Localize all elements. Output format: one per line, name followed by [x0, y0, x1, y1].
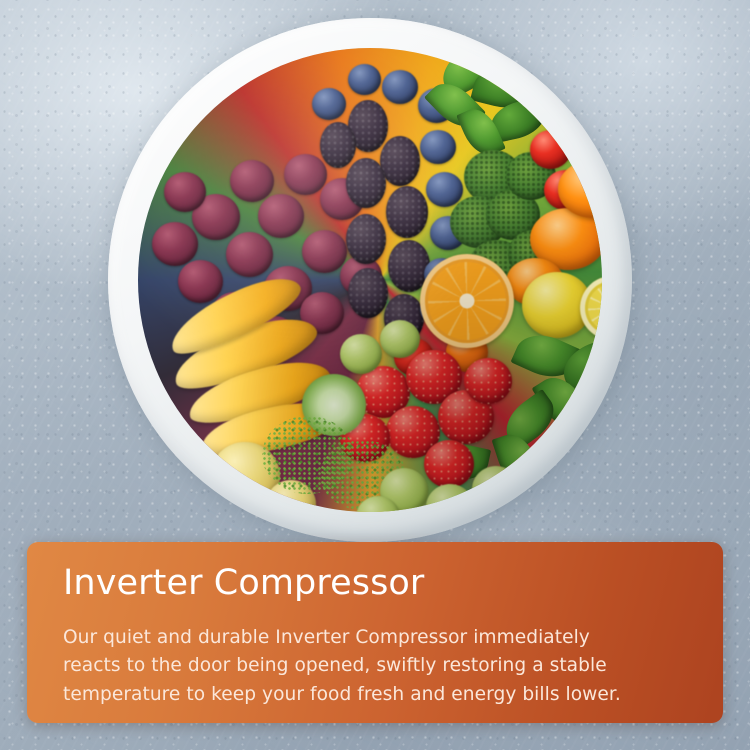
red-grapes [284, 154, 327, 195]
red-grapes [152, 222, 198, 266]
red-grapes [178, 260, 223, 303]
strawberries [464, 358, 512, 404]
blackberries [348, 268, 388, 318]
feature-description: Our quiet and durable Inverter Compresso… [63, 624, 687, 709]
blueberries [312, 88, 346, 120]
red-grapes [226, 232, 273, 277]
blackberries [346, 158, 386, 208]
red-grapes [302, 230, 347, 273]
produce-arrangement [138, 48, 602, 512]
blackberries [386, 186, 428, 238]
red-grapes [258, 194, 304, 238]
feature-description-line: temperature to keep your food fresh and … [63, 681, 687, 709]
feature-card: Inverter Compressor Our quiet and durabl… [27, 542, 723, 723]
blueberries [382, 70, 418, 104]
white-round-plate [108, 18, 632, 542]
green-grapes [380, 320, 420, 358]
blackberries [380, 136, 420, 186]
blackberries [320, 122, 356, 168]
red-grapes [164, 172, 206, 212]
orange-half [420, 254, 514, 348]
promo-canvas: Inverter Compressor Our quiet and durabl… [0, 0, 750, 750]
feature-description-line: Our quiet and durable Inverter Compresso… [63, 624, 687, 652]
strawberries [424, 440, 474, 488]
feature-title: Inverter Compressor [63, 564, 687, 603]
plate-inner-well [138, 48, 602, 512]
fruit-platter-image [108, 18, 632, 542]
cherry-tomatoes [530, 130, 571, 169]
red-grapes [230, 160, 274, 202]
green-grapes [340, 334, 382, 374]
feature-description-line: reacts to the door being opened, swiftly… [63, 652, 687, 680]
cherry-tomatoes [538, 88, 582, 130]
blackberries [346, 214, 386, 264]
green-grapes [520, 454, 564, 496]
blueberries [420, 130, 456, 164]
blueberries [426, 172, 463, 207]
blueberries [348, 64, 381, 95]
